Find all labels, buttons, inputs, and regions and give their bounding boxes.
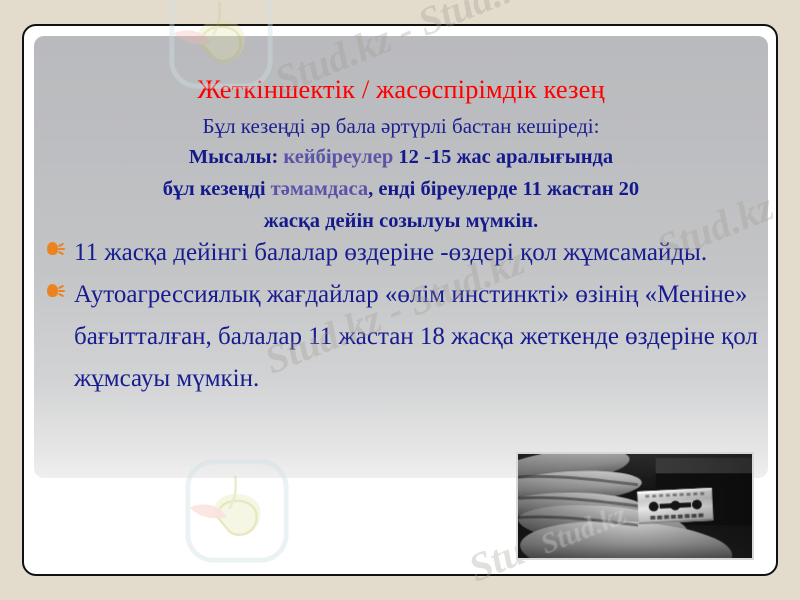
example-line-2-part-3: , енді біреулерде 11 жастан 20 (368, 178, 639, 200)
bullet-text: Аутоагрессиялық жағдайлар «өлім инстинкт… (74, 281, 758, 392)
speaking-head-bullet-icon (46, 281, 66, 301)
example-line-3-part-1: жасқа дейін созылуы мүмкін. (264, 210, 538, 232)
example-line-1: Мысалы: кейбіреулер 12 -15 жас аралығынд… (34, 146, 768, 169)
example-line-2: бұл кезеңді тәмамдаса, енді біреулерде 1… (34, 178, 768, 201)
bullet-text: 11 жасқа дейінгі балалар өздеріне -өздер… (74, 239, 707, 266)
razor-blade-photo (516, 452, 754, 560)
bullet-item: 11 жасқа дейінгі балалар өздеріне -өздер… (44, 232, 758, 274)
razor-blade-photo-canvas (518, 454, 752, 558)
bullet-item: Аутоагрессиялық жағдайлар «өлім инстинкт… (44, 274, 758, 400)
example-line-1-part-1: Мысалы: (189, 146, 284, 168)
example-line-3: жасқа дейін созылуы мүмкін. (34, 210, 768, 233)
bullet-list: 11 жасқа дейінгі балалар өздеріне -өздер… (44, 232, 758, 400)
example-line-1-part-3: 12 -15 жас аралығында (393, 146, 613, 168)
example-line-2-part-2: тәмамдаса (271, 178, 368, 200)
slide-title: Жеткіншектік / жасөспірімдік кезең (34, 74, 768, 105)
example-line-1-part-2: кейбіреулер (283, 146, 393, 168)
example-line-2-part-1: бұл кезеңді (163, 178, 271, 200)
speaking-head-bullet-icon (46, 239, 66, 259)
slide-subtitle: Бұл кезеңді әр бала әртүрлі бастан кешір… (34, 114, 768, 139)
slide-content-panel: Жеткіншектік / жасөспірімдік кезең Бұл к… (34, 36, 768, 478)
